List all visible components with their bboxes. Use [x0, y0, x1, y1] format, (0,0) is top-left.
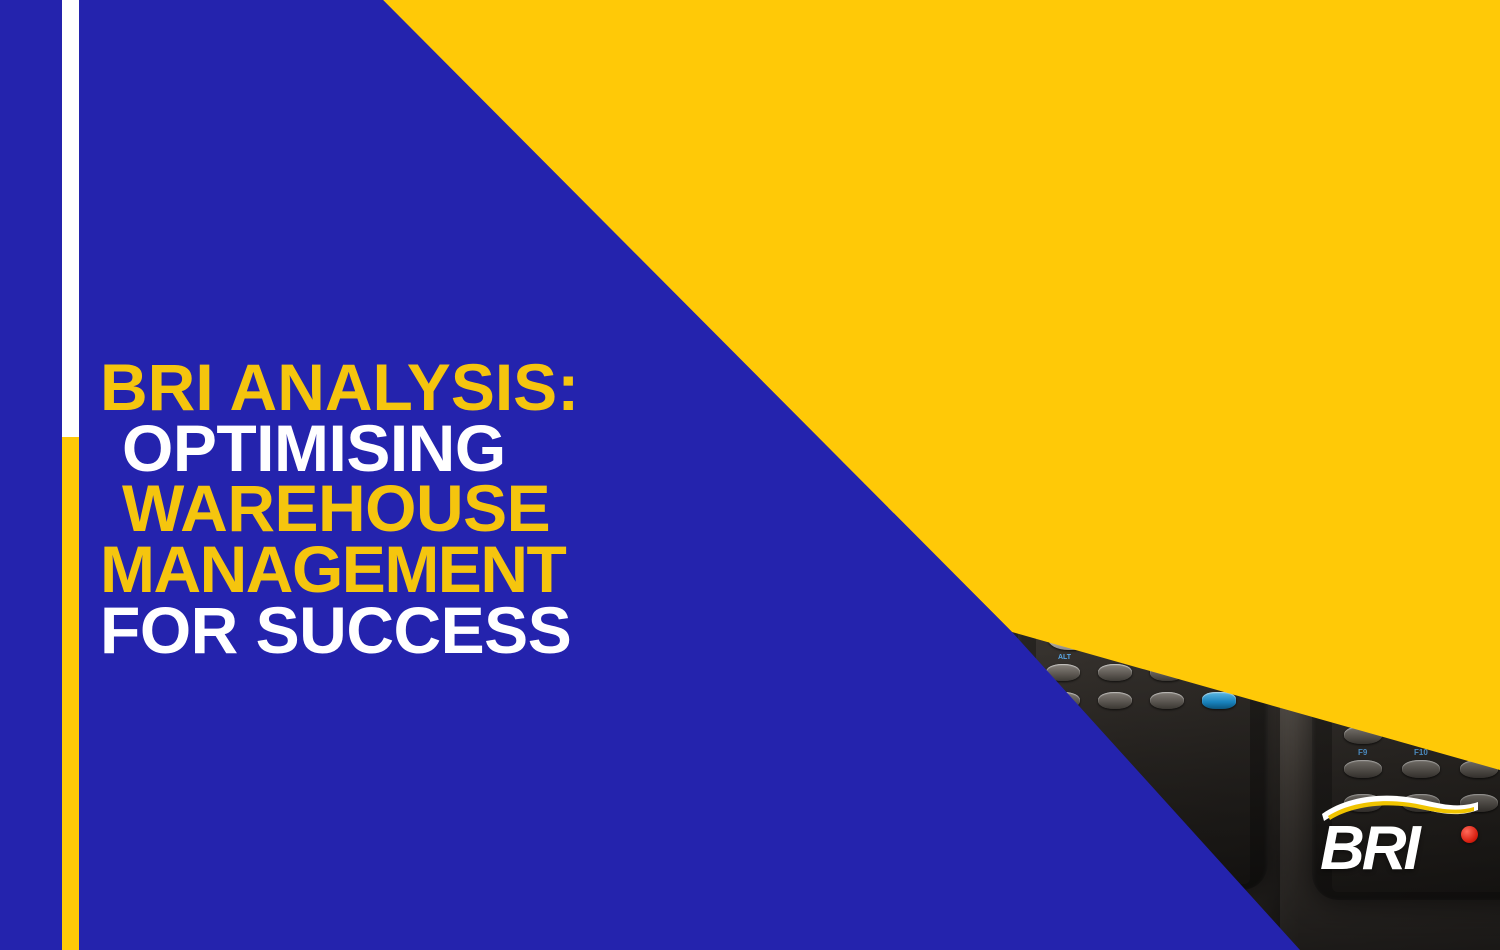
poster-canvas: · · · ▲ ◀ ▼ symbol · · ·	[0, 0, 1500, 950]
key-1: 1	[1048, 590, 1092, 614]
key-6: 6	[1494, 574, 1500, 600]
key-2: 2	[1420, 612, 1468, 638]
symbol-brand-text: symbol	[1442, 82, 1495, 100]
dust-speck	[1382, 406, 1500, 416]
screen-glare	[1323, 154, 1500, 392]
key-3: 3	[1494, 612, 1500, 638]
key-label-esc: ESC	[1064, 504, 1080, 513]
key-scan-yellow: · · ·	[1402, 490, 1488, 518]
dust-speck	[904, 270, 914, 276]
key-green	[832, 460, 872, 486]
key-scan-yellow: · · ·	[1100, 474, 1178, 500]
key-7: 7	[1048, 518, 1092, 542]
key-red	[940, 460, 980, 486]
key-scan-yellow: · · ·	[876, 460, 932, 482]
arrow-up-glyph: ▲	[894, 488, 906, 502]
bri-logo: BRI	[1320, 790, 1480, 890]
key-down: ▼	[880, 546, 910, 566]
key-8: 8	[1420, 536, 1468, 562]
bri-wordmark: BRI	[1320, 818, 1418, 880]
arrow-up-glyph: ▲	[1436, 522, 1448, 536]
symbol-brand-text: symbol	[1139, 76, 1182, 91]
key-left-arrow: ◀	[864, 506, 894, 526]
title-line-5: FOR SUCCESS	[100, 600, 760, 661]
dust-speck	[1108, 156, 1130, 164]
dust-speck	[1432, 180, 1452, 188]
scanner-left-status-led	[882, 410, 912, 434]
key-8: 8	[1116, 518, 1160, 542]
key-label-tab: TAB	[1194, 504, 1210, 513]
dust-speck	[860, 232, 878, 241]
key-9: 9	[1184, 518, 1228, 542]
stripe-white-segment	[62, 0, 79, 437]
stripe-yellow-segment	[62, 437, 79, 950]
key-6: 6	[1184, 554, 1228, 578]
scanner-right-screen	[1340, 136, 1500, 434]
key-green	[1046, 474, 1094, 504]
scanner-middle-screen	[1044, 124, 1232, 418]
screen-glare	[814, 167, 960, 388]
title-line-3: WAREHOUSE	[100, 478, 760, 539]
symbol-brand-plate-right: symbol	[1414, 78, 1500, 104]
key-fn	[868, 580, 900, 598]
page-title: BRI ANALYSIS: OPTIMISING WAREHOUSE MANAG…	[100, 357, 760, 661]
scanner-middle-speaker-grille	[1076, 436, 1200, 456]
arrow-up-glyph: ▲	[1132, 504, 1143, 516]
key-red	[1190, 474, 1238, 504]
key-2: 2	[1116, 590, 1160, 614]
scanner-right-speaker-grille	[1378, 450, 1500, 472]
left-accent-stripe	[62, 0, 79, 950]
title-line-4: MANAGEMENT	[100, 539, 760, 600]
title-line-2: OPTIMISING	[100, 418, 760, 479]
key-4: 4	[1048, 554, 1092, 578]
key-0: 0	[1116, 626, 1160, 650]
dust-speck	[1078, 390, 1198, 399]
key-7: 7	[1346, 536, 1394, 562]
symbol-brand-plate-middle: symbol	[1117, 72, 1203, 94]
key-bksp: BKSP	[1048, 626, 1092, 650]
key-5: 5	[1116, 554, 1164, 582]
key-3: 3	[1184, 590, 1228, 614]
key-label-space: SPACE	[1062, 616, 1089, 625]
arrow-left-glyph: ◀	[1334, 572, 1342, 585]
key-label-space: SPACE	[1362, 640, 1389, 649]
scanner-left-screen	[832, 150, 974, 426]
key-4: 4	[1346, 574, 1394, 600]
key-green	[1344, 490, 1396, 522]
key-orange	[920, 506, 946, 526]
bri-red-dot-icon	[1461, 826, 1478, 843]
key-orange	[1232, 520, 1252, 542]
screen-glare	[1027, 142, 1209, 377]
key-label-esc: ESC	[1364, 522, 1383, 532]
key-5: 5	[1420, 574, 1472, 604]
key-9: 9	[1494, 536, 1500, 562]
key-period: .	[1184, 626, 1228, 650]
title-line-1: BRI ANALYSIS:	[100, 357, 760, 418]
key-1: 1	[1346, 612, 1394, 638]
